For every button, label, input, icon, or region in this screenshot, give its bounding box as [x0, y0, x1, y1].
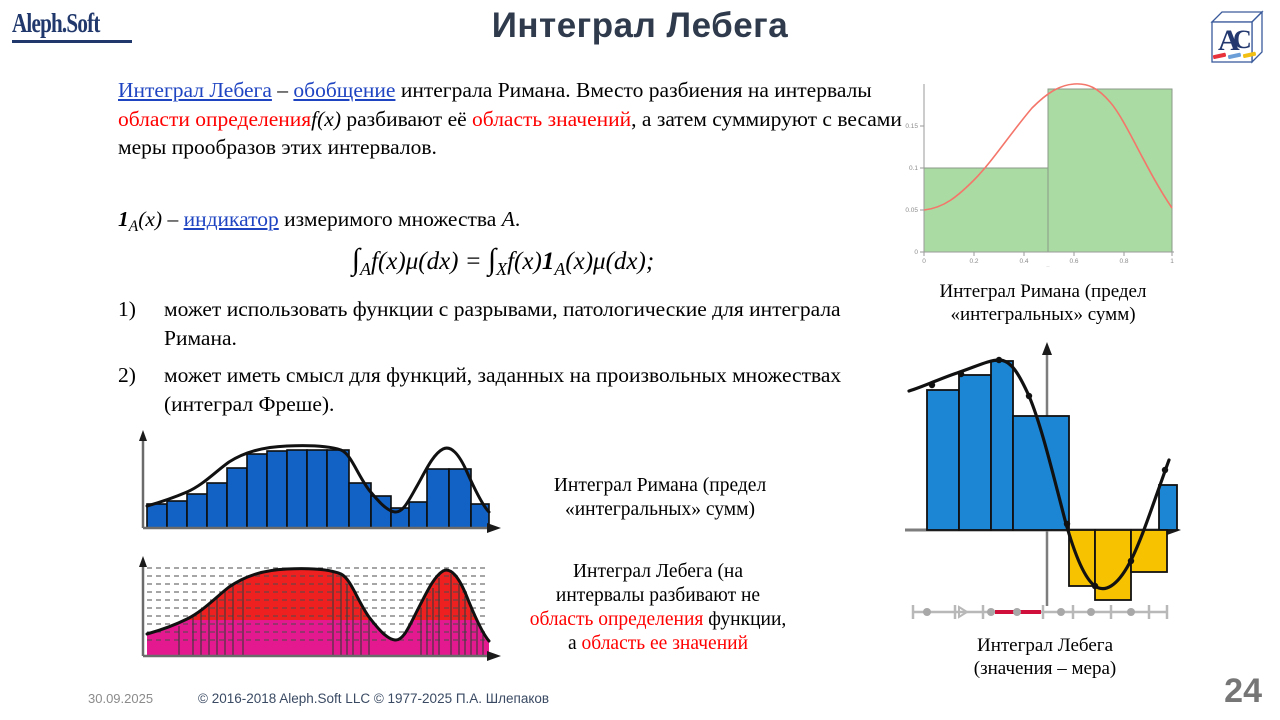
y-axis-arrow-icon — [139, 556, 147, 567]
aleph-soft-cube-logo[interactable]: A C — [1206, 6, 1268, 68]
page-number: 24 — [1224, 672, 1262, 711]
page-title: Интеграл Лебега — [0, 6, 1280, 46]
intro-text-2: разбивают её — [341, 107, 472, 131]
intro-text-1: интеграла Римана. Вместо разбиения на ин… — [395, 78, 871, 102]
y-tick-labels: 0 0.05 0.1 0.15 — [905, 123, 918, 256]
svg-text:0.2: 0.2 — [969, 258, 978, 265]
formula-equals: = — [459, 248, 488, 275]
math-fx: f(x) — [311, 107, 341, 131]
lebesgue-fill-group — [133, 548, 503, 670]
indicator-argument: (x) — [138, 207, 162, 231]
caption-line-2: «интегральных» сумм) — [898, 303, 1188, 326]
caption-riemann-left: Интеграл Римана (предел «интегральных» с… — [505, 474, 815, 522]
y-tick-marks — [920, 126, 924, 252]
link-indicator[interactable]: индикатор — [184, 207, 279, 231]
caption-line-3: область определения функции, — [498, 608, 818, 632]
slide-root: Aleph.Soft Интеграл Лебега A C Интеграл … — [0, 0, 1280, 720]
list-item-marker: 2) — [118, 361, 164, 418]
caption-line-1: Интеграл Римана (предел — [505, 474, 815, 498]
dash-1: – — [272, 78, 294, 102]
svg-text:1: 1 — [1170, 258, 1174, 265]
x-tick-labels: 0 0.2 0.4 0.6 0.8 1 — [922, 258, 1174, 265]
caption-red-range: область ее значений — [582, 633, 748, 654]
x-tick-marks — [924, 252, 1172, 256]
positive-bars-group — [927, 361, 1177, 530]
negative-bars-group — [1069, 530, 1167, 600]
lebesgue-formula: ∫Af(x)μ(dx) = ∫Xf(x)1A(x)μ(dx); — [118, 243, 888, 280]
y-axis-arrow-icon — [139, 430, 147, 441]
cube-logo-icon: A C — [1206, 6, 1268, 68]
properties-list: 1) может использовать функции с разрывам… — [118, 295, 908, 427]
svg-text:0: 0 — [914, 249, 918, 256]
integral-sign-1: ∫ — [352, 243, 360, 276]
svg-text:0.1: 0.1 — [909, 165, 918, 172]
caption-line-2: «интегральных» сумм) — [505, 498, 815, 522]
footer-date: 30.09.2025 — [88, 691, 153, 706]
formula-mid-1: f(x)μ(dx) — [371, 248, 459, 275]
list-item-text: может иметь смысл для функций, заданных … — [164, 361, 908, 418]
integral-sign-2: ∫ — [488, 243, 496, 276]
figure-riemann-green-chart: 0 0.05 0.1 0.15 0 0.2 0.4 0.6 0.8 1 — [902, 62, 1180, 267]
caption-line-4-head: а — [568, 633, 582, 654]
caption-line-2: (значения – мера) — [905, 657, 1185, 680]
formula-indicator-sub: A — [554, 259, 565, 279]
green-bar-1 — [924, 168, 1048, 252]
link-generalization[interactable]: обобщение — [293, 78, 395, 102]
caption-lebesgue-left: Интеграл Лебега (на интервалы разбивают … — [498, 560, 818, 656]
highlight-range: область значений — [472, 107, 631, 131]
caption-red-domain: область определения — [530, 609, 704, 630]
indicator-definition: 1A(x) – индикатор измеримого множества A… — [118, 205, 908, 241]
figure-lebesgue-slices — [133, 548, 503, 670]
list-item-marker: 1) — [118, 295, 164, 352]
formula-indicator-one: 1 — [542, 248, 555, 275]
svg-text:C: C — [1233, 25, 1252, 54]
svg-text:0.4: 0.4 — [1019, 258, 1028, 265]
list-item: 2) может иметь смысл для функций, заданн… — [118, 361, 908, 418]
caption-line-1: Интеграл Лебега (на — [498, 560, 818, 584]
caption-line-3-tail: функции, — [703, 609, 786, 630]
svg-text:0: 0 — [922, 258, 926, 265]
measure-line — [913, 605, 1167, 619]
caption-riemann-right: Интеграл Римана (предел «интегральных» с… — [898, 280, 1188, 326]
formula-tail: (x)μ(dx); — [565, 248, 654, 275]
lebesgue-slices-svg — [133, 548, 503, 670]
indicator-tail: измеримого множества — [279, 207, 502, 231]
x-axis-label: x — [1047, 266, 1050, 267]
riemann-bars-svg — [133, 428, 503, 540]
caption-lebesgue-right: Интеграл Лебега (значения – мера) — [905, 634, 1185, 680]
intro-paragraph: Интеграл Лебега – обобщение интеграла Ри… — [118, 76, 908, 162]
svg-text:0.6: 0.6 — [1069, 258, 1078, 265]
indicator-set: A — [502, 207, 515, 231]
blue-bars-group — [147, 450, 489, 528]
riemann-green-chart-svg: 0 0.05 0.1 0.15 0 0.2 0.4 0.6 0.8 1 — [902, 62, 1180, 267]
figure-riemann-blue-bars — [133, 428, 503, 540]
green-bar-2 — [1048, 89, 1172, 252]
x-axis-arrow-icon — [487, 523, 501, 533]
highlight-domain: области определения — [118, 107, 311, 131]
caption-line-1: Интеграл Римана (предел — [898, 280, 1188, 303]
formula-mid-2: f(x) — [507, 248, 542, 275]
indicator-period: . — [515, 207, 520, 231]
lebesgue-measure-svg — [895, 334, 1185, 630]
indicator-symbol: 1 — [118, 207, 129, 231]
indicator-dash: – — [162, 207, 184, 231]
svg-text:0.15: 0.15 — [905, 123, 918, 130]
footer-copyright: © 2016-2018 Aleph.Soft LLC © 1977-2025 П… — [198, 691, 549, 706]
list-item-text: может использовать функции с разрывами, … — [164, 295, 908, 352]
integral-sub-X: X — [496, 259, 507, 279]
caption-line-1: Интеграл Лебега — [905, 634, 1185, 657]
link-lebesgue-integral[interactable]: Интеграл Лебега — [118, 78, 272, 102]
integral-sub-A: A — [360, 259, 371, 279]
caption-line-2: интервалы разбивают не — [498, 584, 818, 608]
svg-text:0.05: 0.05 — [905, 207, 918, 214]
y-axis-arrow-icon — [1042, 342, 1052, 355]
caption-line-4: а область ее значений — [498, 632, 818, 656]
figure-lebesgue-measure — [895, 334, 1185, 630]
list-item: 1) может использовать функции с разрывам… — [118, 295, 908, 352]
indicator-subscript: A — [129, 218, 138, 235]
svg-text:0.8: 0.8 — [1119, 258, 1128, 265]
